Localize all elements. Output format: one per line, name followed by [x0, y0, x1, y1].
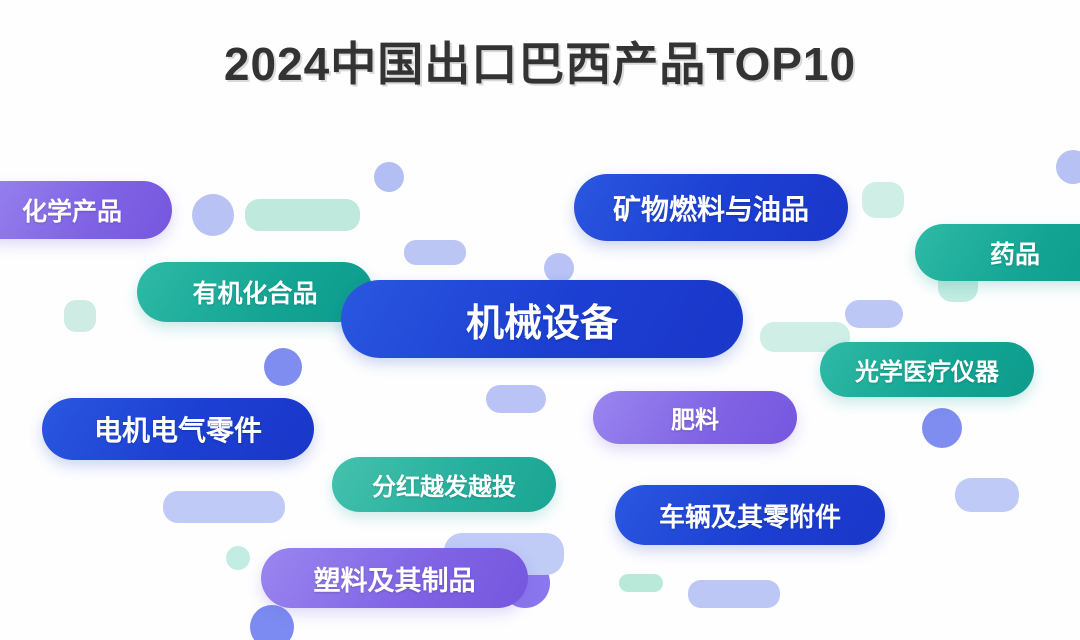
decor-rect-4	[845, 300, 903, 328]
pill-dividend-reinvest-label: 分红越发越投	[372, 467, 516, 502]
decor-rect-6	[64, 300, 96, 332]
pill-organic-compounds[interactable]: 有机化合品	[137, 262, 373, 322]
decor-circle-4	[264, 348, 302, 386]
page-title: 2024中国出口巴西产品TOP10	[0, 36, 1080, 92]
decor-circle-3	[544, 253, 574, 283]
pill-chemicals[interactable]: 化学产品	[0, 181, 172, 239]
pill-optical-medical-instruments[interactable]: 光学医疗仪器	[820, 342, 1034, 397]
pill-electrical-motor-parts-label: 电机电气零件	[94, 409, 262, 449]
pill-organic-compounds-label: 有机化合品	[192, 274, 317, 310]
decor-rect-8	[163, 491, 285, 523]
pill-plastics-and-products[interactable]: 塑料及其制品	[261, 548, 528, 608]
decor-rect-14	[862, 182, 904, 218]
decor-rect-7	[486, 385, 546, 413]
decor-circle-5	[250, 605, 294, 640]
decor-pill-1	[404, 240, 466, 265]
pill-pharmaceuticals-label: 药品	[990, 235, 1040, 271]
decor-circle-7	[226, 546, 250, 570]
infographic-canvas: 2024中国出口巴西产品TOP10 化学产品矿物燃料与油品药品有机化合品机械设备…	[0, 0, 1080, 640]
pill-mineral-fuels-oils[interactable]: 矿物燃料与油品	[574, 174, 848, 241]
decor-rect-10	[619, 574, 663, 592]
pill-vehicles-and-parts-label: 车辆及其零附件	[659, 497, 841, 534]
pill-fertilizer-label: 肥料	[671, 400, 719, 435]
pill-dividend-reinvest[interactable]: 分红越发越投	[332, 457, 556, 512]
pill-optical-medical-instruments-label: 光学医疗仪器	[855, 352, 999, 387]
pill-pharmaceuticals[interactable]: 药品	[915, 224, 1080, 281]
pill-machinery-equipment[interactable]: 机械设备	[341, 280, 743, 358]
decor-rect-1	[245, 199, 360, 231]
decor-circle-9	[1056, 150, 1080, 184]
decor-circle-8	[922, 408, 962, 448]
decor-rect-12	[955, 478, 1019, 512]
pill-machinery-equipment-label: 机械设备	[466, 292, 618, 347]
decor-circle-2	[374, 162, 404, 192]
pill-vehicles-and-parts[interactable]: 车辆及其零附件	[615, 485, 885, 545]
decor-circle-1	[192, 194, 234, 236]
pill-chemicals-label: 化学产品	[22, 192, 122, 228]
pill-electrical-motor-parts[interactable]: 电机电气零件	[42, 398, 314, 460]
pill-mineral-fuels-oils-label: 矿物燃料与油品	[613, 188, 809, 228]
decor-rect-11	[688, 580, 780, 608]
pill-fertilizer[interactable]: 肥料	[593, 391, 797, 444]
pill-plastics-and-products-label: 塑料及其制品	[314, 559, 476, 598]
